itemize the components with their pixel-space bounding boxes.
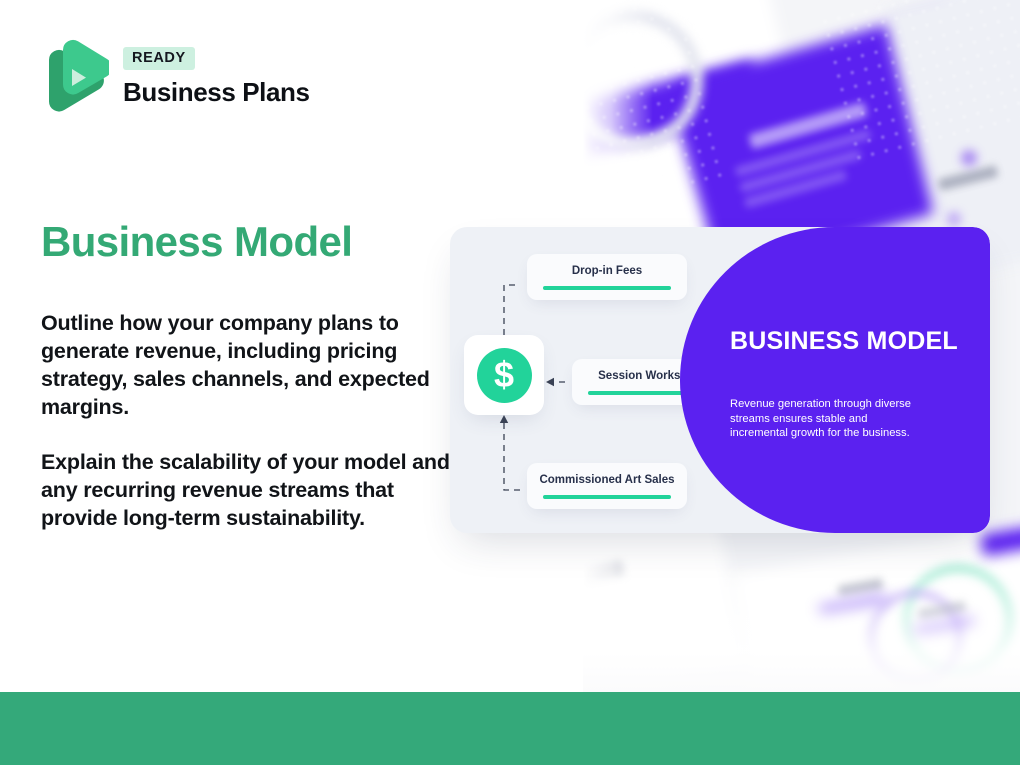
brand-text: READY Business Plans bbox=[123, 47, 310, 108]
diagram-node-label: Commissioned Art Sales bbox=[539, 474, 674, 486]
brand-name: Business Plans bbox=[123, 77, 310, 108]
diagram-node-drop-in-fees[interactable]: Drop-in Fees bbox=[527, 254, 687, 300]
body-paragraph-2: Explain the scalability of your model an… bbox=[41, 448, 461, 532]
ready-badge: READY bbox=[123, 47, 195, 70]
diagram-node-label: Drop-in Fees bbox=[572, 265, 642, 277]
footer-bar bbox=[0, 692, 1020, 765]
diagram-node-accent-bar bbox=[543, 286, 671, 290]
dollar-sign-icon: $ bbox=[477, 348, 532, 403]
revenue-hub: $ bbox=[464, 335, 544, 415]
business-model-panel: BUSINESS MODEL Revenue generation throug… bbox=[680, 227, 990, 533]
business-model-card: $ Drop-in Fees Session Workshops Commiss… bbox=[450, 227, 990, 533]
panel-title: BUSINESS MODEL bbox=[730, 327, 960, 355]
background-accent-dot bbox=[961, 150, 977, 166]
background-fade-bottom bbox=[583, 560, 1020, 692]
page-title: Business Model bbox=[41, 218, 352, 266]
diagram-node-commissioned-art-sales[interactable]: Commissioned Art Sales bbox=[527, 463, 687, 509]
panel-description: Revenue generation through diverse strea… bbox=[730, 397, 922, 441]
background-accent-dot bbox=[947, 212, 961, 226]
brand-lockup: READY Business Plans bbox=[41, 38, 310, 116]
play-triangles-logo-icon bbox=[41, 38, 109, 116]
diagram-node-accent-bar bbox=[543, 495, 671, 499]
body-paragraph-1: Outline how your company plans to genera… bbox=[41, 309, 461, 421]
